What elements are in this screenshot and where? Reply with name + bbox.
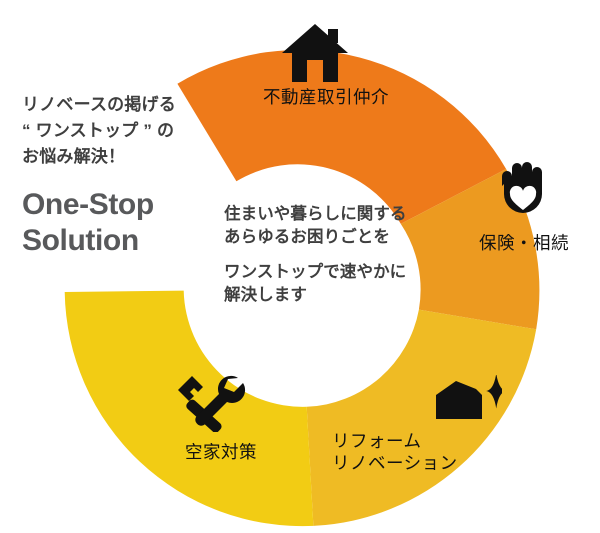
segment-label-real-estate: 不動産取引仲介 bbox=[236, 86, 416, 108]
sparkle-house-icon bbox=[432, 375, 502, 425]
infographic-canvas: 不動産取引仲介 保険・相続 リフォーム リノベーション 空家対策 リノベースの掲… bbox=[0, 0, 600, 533]
hand-heart-icon bbox=[492, 158, 554, 224]
house-icon bbox=[280, 22, 350, 84]
headline-block: リノベースの掲げる “ ワンストップ ” の お悩み解決！ One-Stop S… bbox=[22, 92, 232, 258]
segment-label-vacant-house: 空家対策 bbox=[160, 441, 282, 463]
center-copy: 住まいや暮らしに関する あらゆるお困りごとを ワンストップで速やかに 解決します bbox=[224, 203, 454, 308]
page-title: One-Stop Solution bbox=[22, 187, 232, 257]
segment-label-insurance: 保険・相続 bbox=[462, 232, 586, 254]
lead-copy: リノベースの掲げる “ ワンストップ ” の お悩み解決！ bbox=[22, 92, 232, 169]
center-copy-line-2: ワンストップで速やかに 解決します bbox=[224, 261, 454, 308]
segment-label-reform: リフォーム リノベーション bbox=[332, 430, 502, 475]
center-copy-line-1: 住まいや暮らしに関する あらゆるお困りごとを bbox=[224, 203, 454, 250]
hammer-wrench-icon bbox=[172, 368, 246, 432]
